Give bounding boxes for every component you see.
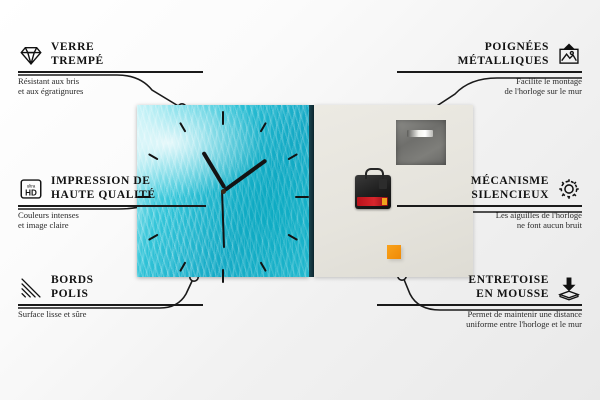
diamond-icon bbox=[18, 42, 44, 68]
feature-rule bbox=[18, 304, 203, 306]
feature-title: VERRE bbox=[51, 41, 104, 55]
mechanism-notch bbox=[379, 179, 387, 189]
feature-impression-haute-qualite: ultra HD IMPRESSION DE HAUTE QUALITÉ Cou… bbox=[18, 175, 210, 231]
foam-spacer bbox=[387, 245, 401, 259]
svg-text:ultra: ultra bbox=[27, 183, 36, 188]
polished-edges-icon bbox=[18, 275, 44, 301]
feature-desc: Couleurs intenses bbox=[18, 210, 210, 221]
feature-mecanisme-silencieux: MÉCANISME SILENCIEUX Les aiguilles de l'… bbox=[392, 175, 582, 231]
feature-title: POIGNÉES bbox=[458, 41, 549, 55]
hanging-frame-icon bbox=[556, 42, 582, 68]
feature-title-2: MÉTALLIQUES bbox=[458, 55, 549, 69]
gear-icon bbox=[556, 176, 582, 202]
svg-text:HD: HD bbox=[25, 188, 37, 197]
feature-rule bbox=[397, 71, 582, 73]
feature-title: IMPRESSION DE bbox=[51, 175, 156, 189]
feature-desc-2: de l'horloge sur le mur bbox=[392, 86, 582, 97]
feature-desc-2: uniforme entre l'horloge et le mur bbox=[372, 319, 582, 330]
clock-mechanism bbox=[355, 175, 391, 209]
feature-rule bbox=[18, 71, 203, 73]
feature-rule bbox=[377, 304, 582, 306]
feature-bords-polis: BORDS POLIS Surface lisse et sûre bbox=[18, 274, 208, 319]
feature-desc: Surface lisse et sûre bbox=[18, 309, 208, 320]
feature-title-2: SILENCIEUX bbox=[471, 189, 549, 203]
feature-rule bbox=[18, 205, 206, 207]
battery bbox=[357, 197, 388, 206]
hanger-slot bbox=[407, 130, 433, 137]
feature-poignees-metalliques: POIGNÉES MÉTALLIQUES Facilite le montage… bbox=[392, 41, 582, 97]
feature-desc-2: et aux égratignures bbox=[18, 86, 208, 97]
feature-entretoise-en-mousse: ENTRETOISE EN MOUSSE Permet de maintenir… bbox=[372, 274, 582, 330]
feature-title: MÉCANISME bbox=[471, 175, 549, 189]
feature-title: ENTRETOISE bbox=[468, 274, 549, 288]
feature-title-2: EN MOUSSE bbox=[468, 288, 549, 302]
metal-hanger-plate bbox=[396, 120, 446, 165]
ultra-hd-icon: ultra HD bbox=[18, 176, 44, 202]
foam-spacer-arrow-icon bbox=[556, 275, 582, 301]
feature-desc: Les aiguilles de l'horloge bbox=[392, 210, 582, 221]
feature-verre-trempe: VERRE TREMPÉ Résistant aux bris et aux é… bbox=[18, 41, 208, 97]
feature-desc: Résistant aux bris bbox=[18, 76, 208, 87]
feature-rule bbox=[397, 205, 582, 207]
feature-desc: Facilite le montage bbox=[392, 76, 582, 87]
feature-desc-2: ne font aucun bruit bbox=[392, 220, 582, 231]
feature-desc-2: et image claire bbox=[18, 220, 210, 231]
feature-title-2: HAUTE QUALITÉ bbox=[51, 189, 156, 203]
feature-desc: Permet de maintenir une distance bbox=[372, 309, 582, 320]
clock-center-pin bbox=[221, 189, 226, 194]
feature-title-2: POLIS bbox=[51, 288, 94, 302]
mechanism-hanging-loop bbox=[365, 168, 384, 179]
infographic-canvas: VERRE TREMPÉ Résistant aux bris et aux é… bbox=[0, 0, 600, 400]
feature-title-2: TREMPÉ bbox=[51, 55, 104, 69]
feature-title: BORDS bbox=[51, 274, 94, 288]
